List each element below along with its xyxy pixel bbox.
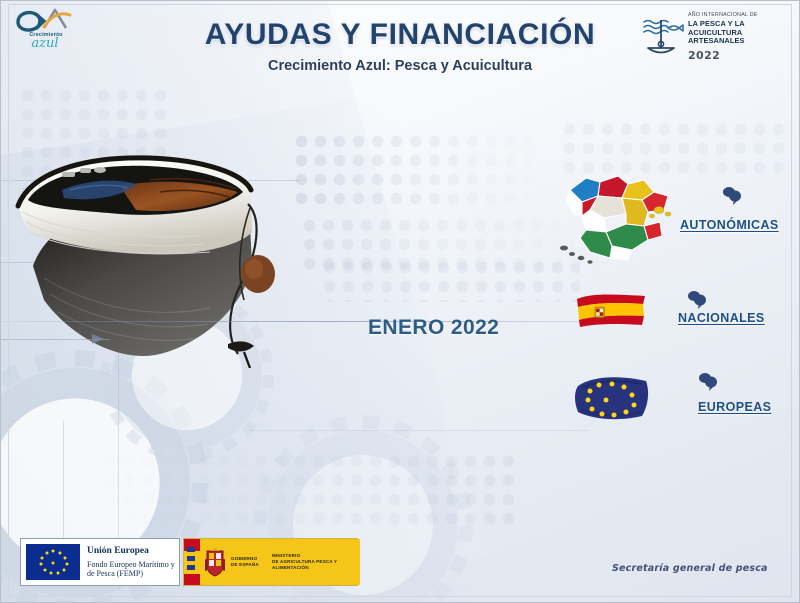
click-cursor-icon: [686, 290, 708, 310]
femp-line-1: Unión Europea: [87, 546, 179, 556]
hairline-decoration: [250, 430, 590, 431]
spain-flag-bar-icon: [184, 539, 200, 585]
secretaria-credit: Secretaría general de pesca: [612, 563, 768, 574]
badge-line-2: LA PESCA Y LA ACUICULTURA ARTESANALES: [688, 20, 788, 46]
nav-link-autonomicas[interactable]: AUTONÓMICAS: [680, 218, 779, 232]
gobierno-body: GOBIERNO DE ESPAÑA MINISTERIO DE AGRICUL…: [200, 539, 360, 585]
fao-fishing-icon: [638, 14, 684, 58]
timeline-arrow-icon: [92, 334, 104, 344]
nav-link-europeas[interactable]: EUROPEAS: [698, 400, 771, 414]
ministerio-text: MINISTERIO DE AGRICULTURA PESCA Y ALIMEN…: [272, 553, 360, 571]
spain-communities-map-icon: [556, 166, 678, 270]
eu-flag-brush-icon: [572, 372, 652, 424]
gobierno-text: GOBIERNO DE ESPAÑA: [231, 556, 267, 568]
timeline-connector: [0, 321, 590, 322]
rowboat-photo: [0, 86, 320, 368]
crecimiento-azul-logo[interactable]: Crecimiento azul: [14, 6, 76, 56]
date-label: ENERO 2022: [368, 316, 499, 340]
header: Crecimiento azul AYUDAS Y FINANCIACIÓN C…: [0, 0, 800, 84]
nav-link-nacionales[interactable]: NACIONALES: [678, 311, 765, 325]
gob-line-2: DE ESPAÑA: [231, 562, 267, 568]
gobierno-espana-logo: GOBIERNO DE ESPAÑA MINISTERIO DE AGRICUL…: [183, 538, 358, 586]
badge-year: 2022: [688, 49, 788, 62]
femp-line-2: Fondo Europeo Marítimo y de Pesca (FEMP): [87, 560, 179, 579]
eu-stars: [26, 544, 80, 580]
spain-flag-brush-icon: [573, 288, 649, 330]
gob-line-4: DE AGRICULTURA PESCA Y ALIMENTACIÓN: [272, 559, 360, 571]
slide-canvas: Crecimiento azul AYUDAS Y FINANCIACIÓN C…: [0, 0, 800, 603]
badge-line-1: AÑO INTERNACIONAL DE: [688, 12, 788, 19]
spain-coat-of-arms-icon: [204, 547, 226, 577]
click-cursor-icon: [697, 372, 719, 392]
international-year-badge: AÑO INTERNACIONAL DE LA PESCA Y LA ACUIC…: [638, 8, 788, 66]
femp-logo: Unión Europea Fondo Europeo Marítimo y d…: [20, 538, 180, 586]
femp-text: Unión Europea Fondo Europeo Marítimo y d…: [87, 546, 179, 579]
click-cursor-icon: [721, 186, 743, 206]
eu-flag-icon: [26, 544, 80, 580]
rowboat-illustration: [0, 86, 320, 368]
logo-line-2: azul: [16, 37, 74, 51]
